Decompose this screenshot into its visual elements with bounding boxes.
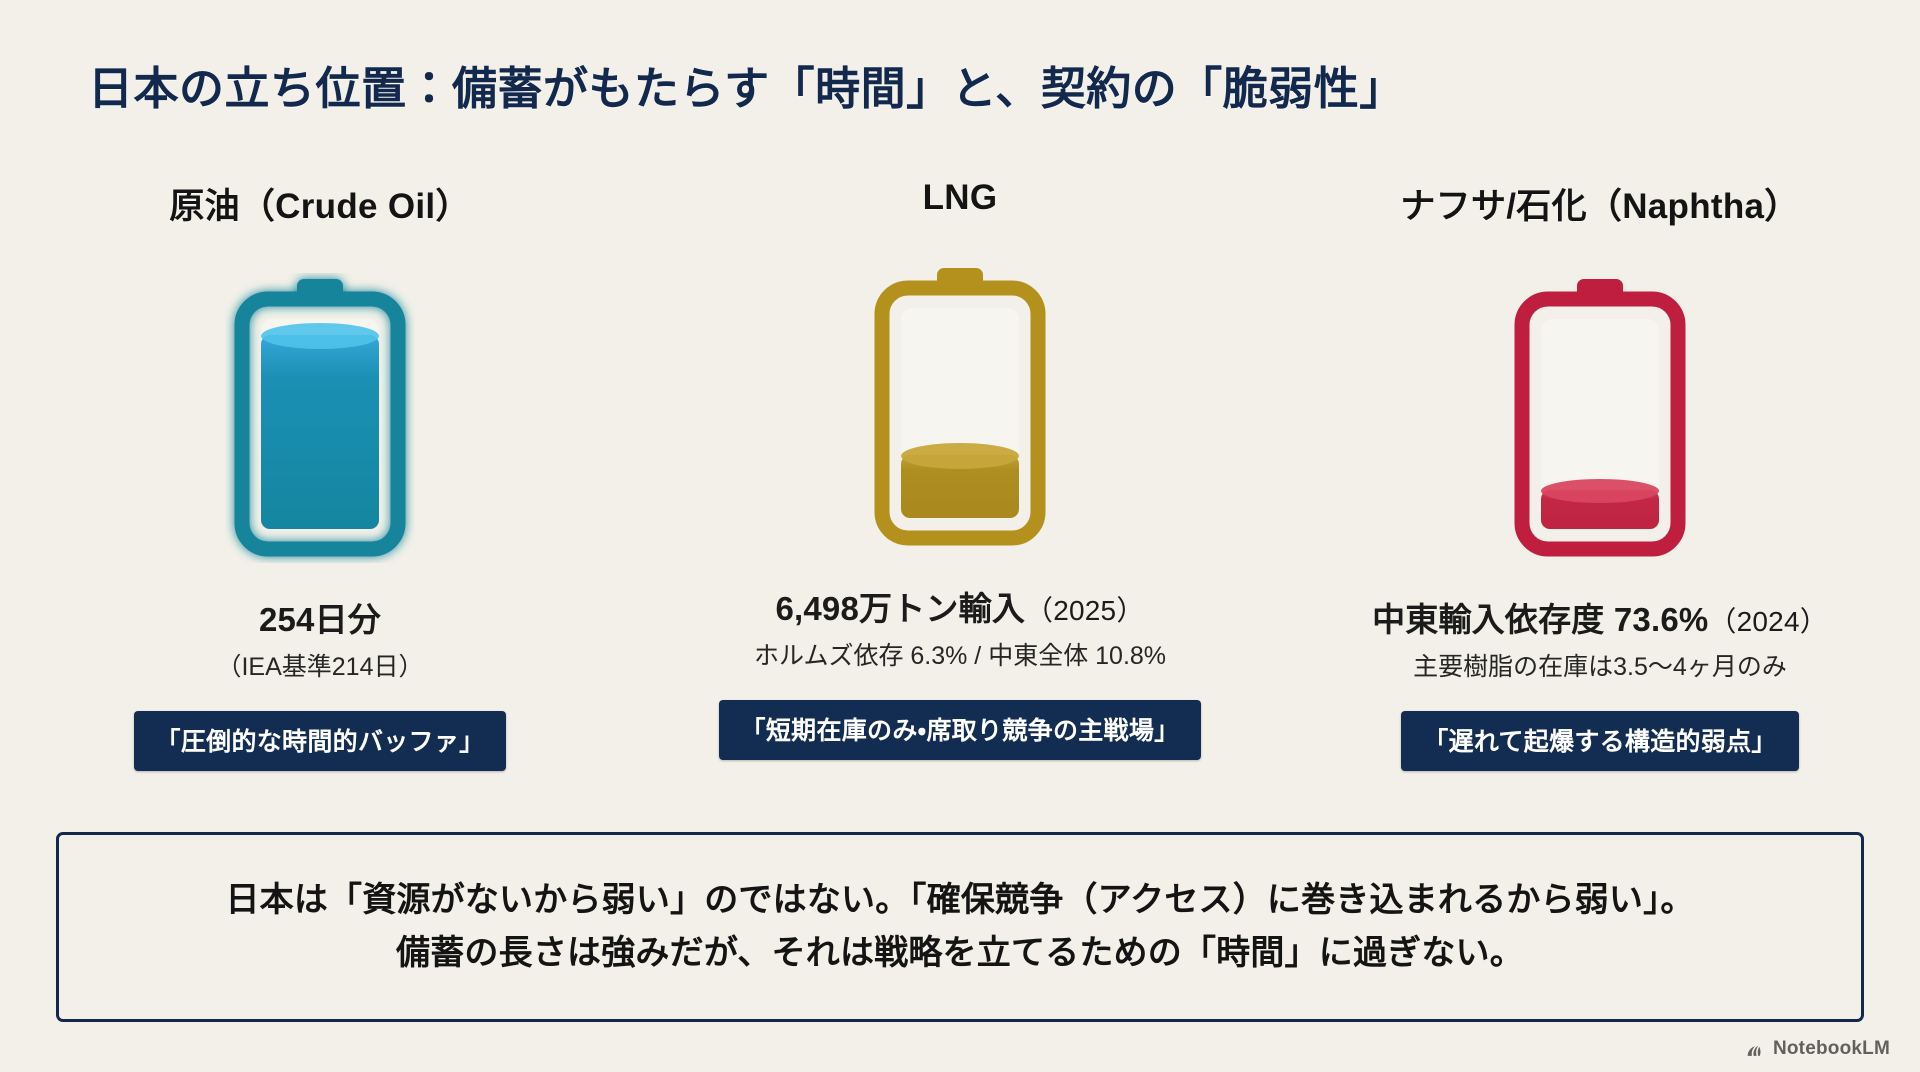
slide-root: 日本の立ち位置：備蓄がもたらす「時間」と、契約の「脆弱性」 原油（Crude O… bbox=[0, 0, 1920, 1072]
column-header-crude-oil: 原油（Crude Oil） bbox=[169, 178, 470, 229]
stats-crude-oil: 254日分 （IEA基準214日） bbox=[216, 593, 423, 683]
column-header-naphtha: ナフサ/石化（Naphtha） bbox=[1400, 178, 1799, 229]
badge-lng: 「短期在庫のみ・席取り競争の主戦場」 bbox=[719, 700, 1202, 760]
summary-line-2: 備蓄の長さは強みだが、それは戦略を立てるための「時間」に過ぎない。 bbox=[396, 927, 1524, 980]
stat-sub-naphtha: 主要樹脂の在庫は3.5〜4ヶ月のみ bbox=[1372, 647, 1828, 683]
column-naphtha: ナフサ/石化（Naphtha） bbox=[1280, 178, 1920, 771]
stat-main-crude-oil: 254日分 bbox=[216, 593, 423, 641]
stat-main-naphtha: 中東輸入依存度 73.6%（2024） bbox=[1372, 593, 1828, 641]
stats-naphtha: 中東輸入依存度 73.6%（2024） 主要樹脂の在庫は3.5〜4ヶ月のみ bbox=[1372, 593, 1828, 683]
stats-lng: 6,498万トン輸入（2025） ホルムズ依存 6.3% / 中東全体 10.8… bbox=[754, 582, 1166, 672]
column-header-lng: LNG bbox=[923, 178, 998, 218]
notebooklm-logo-icon bbox=[1744, 1038, 1766, 1060]
stat-main-value-naphtha: 中東輸入依存度 73.6% bbox=[1372, 601, 1708, 638]
stat-main-value-crude-oil: 254日分 bbox=[259, 601, 381, 638]
stat-main-year-lng: （2025） bbox=[1025, 595, 1145, 626]
battery-icon bbox=[865, 262, 1055, 552]
watermark: NotebookLM bbox=[1744, 1038, 1890, 1060]
columns-container: 原油（Crude Oil） bbox=[0, 178, 1920, 771]
battery-icon bbox=[225, 273, 415, 563]
column-crude-oil: 原油（Crude Oil） bbox=[0, 178, 640, 771]
badge-crude-oil: 「圧倒的な時間的バッファ」 bbox=[134, 711, 507, 771]
stat-sub-crude-oil: （IEA基準214日） bbox=[216, 647, 423, 683]
stat-sub-lng: ホルムズ依存 6.3% / 中東全体 10.8% bbox=[754, 636, 1166, 672]
battery-naphtha bbox=[1505, 273, 1695, 569]
battery-icon bbox=[1505, 273, 1695, 563]
stat-main-lng: 6,498万トン輸入（2025） bbox=[754, 582, 1166, 630]
stat-main-year-naphtha: （2024） bbox=[1708, 606, 1828, 637]
battery-lng bbox=[865, 262, 1055, 558]
column-lng: LNG bbox=[640, 178, 1280, 771]
stat-main-value-lng: 6,498万トン輸入 bbox=[775, 590, 1025, 627]
summary-box: 日本は「資源がないから弱い」のではない。「確保競争（アクセス）に巻き込まれるから… bbox=[56, 832, 1864, 1022]
badge-naphtha: 「遅れて起爆する構造的弱点」 bbox=[1401, 711, 1798, 771]
page-title: 日本の立ち位置：備蓄がもたらす「時間」と、契約の「脆弱性」 bbox=[88, 52, 1405, 117]
watermark-label: NotebookLM bbox=[1773, 1038, 1890, 1060]
summary-line-1: 日本は「資源がないから弱い」のではない。「確保競争（アクセス）に巻き込まれるから… bbox=[225, 874, 1694, 927]
battery-crude-oil bbox=[225, 273, 415, 569]
